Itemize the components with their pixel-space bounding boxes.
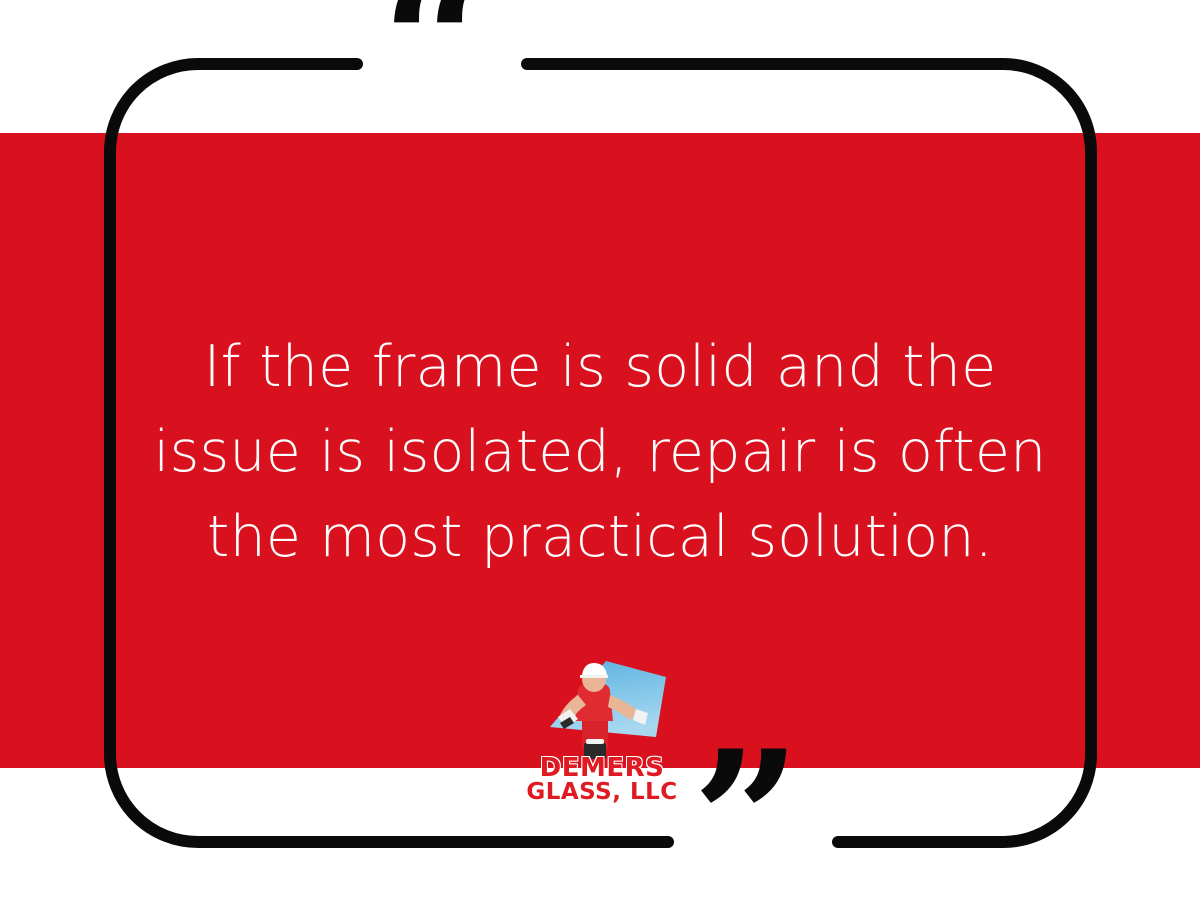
quote-graphic-canvas: “ If the frame is solid and the issue is… — [0, 0, 1200, 900]
logo-company-suffix: GLASS, LLC — [520, 781, 684, 804]
quote-line-1: If the frame is solid and the — [128, 325, 1072, 410]
quote-line-2: issue is isolated, repair is often — [128, 410, 1072, 495]
logo-company-name: DEMERS — [520, 755, 684, 782]
quote-line-3: the most practical solution. — [128, 495, 1072, 580]
logo-wordmark: DEMERS GLASS, LLC — [520, 755, 684, 804]
opening-quotation-mark: “ — [381, 0, 486, 138]
quote-text-block: If the frame is solid and the issue is i… — [128, 325, 1072, 580]
glazier-illustration-icon — [520, 655, 684, 763]
company-logo: DEMERS GLASS, LLC — [520, 655, 684, 815]
closing-quotation-mark: ” — [692, 726, 797, 900]
